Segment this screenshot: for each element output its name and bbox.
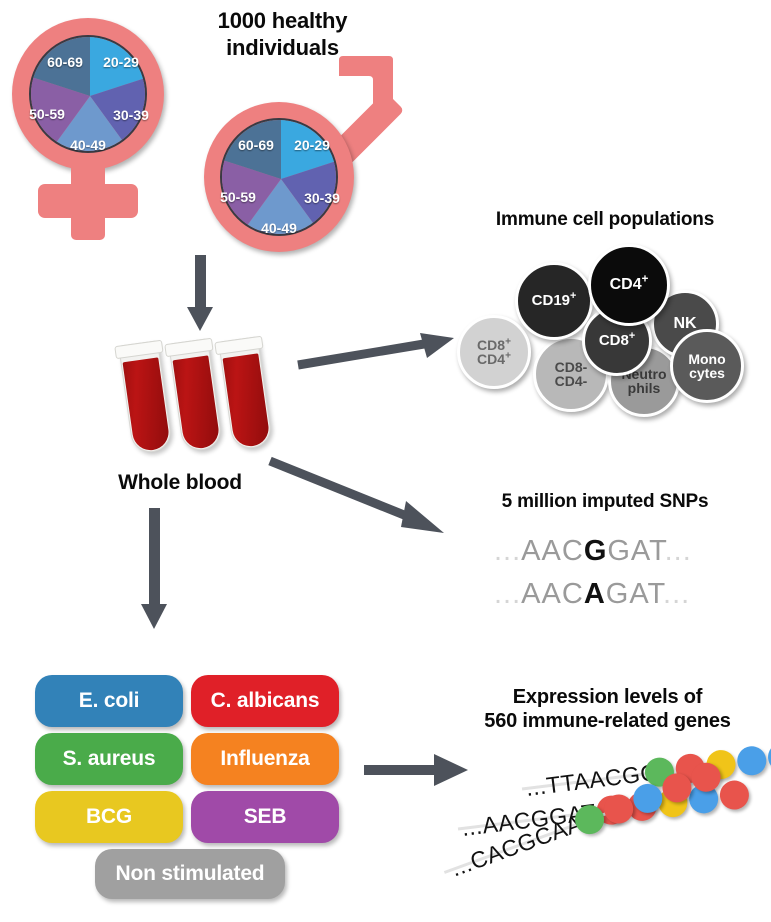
female-symbol-crossbar: [38, 184, 138, 218]
tube-blood: [173, 355, 221, 450]
pie-label-60-69: 60-69: [47, 54, 83, 70]
pie-label-50-59: 50-59: [29, 106, 65, 122]
bead: [766, 741, 771, 773]
tube-blood: [223, 353, 271, 448]
cell-label: CD19+: [532, 293, 577, 308]
stim-box-c-albicans[interactable]: C. albicans: [191, 675, 339, 727]
cell-label: CD4+: [610, 277, 649, 293]
pie-label-male-50-59: 50-59: [220, 189, 256, 205]
diagram-canvas: 1000 healthy individuals 20-29 30-39 40-…: [0, 0, 771, 922]
cell-label: CD8+CD4+: [477, 338, 511, 367]
snps-title: 5 million imputed SNPs: [460, 490, 750, 513]
cell-label: NK: [673, 316, 696, 332]
pie-label-20-29: 20-29: [103, 54, 139, 70]
cell-label: Monocytes: [688, 352, 725, 381]
blood-tube: [118, 340, 173, 454]
cell-cd4p: CD4+: [588, 244, 670, 326]
arrow-to-snps: [268, 455, 448, 545]
blood-tube: [218, 336, 273, 450]
blood-tube: [168, 338, 223, 452]
arrow-head: [141, 604, 167, 629]
whole-blood-label: Whole blood: [85, 470, 275, 496]
snp-sequence-row: ...AACGGAT...: [494, 535, 692, 568]
bead: [600, 790, 637, 827]
snp-prefix: ...: [494, 535, 521, 567]
snp-suffix: ...: [663, 578, 690, 610]
arrow-shaft: [195, 255, 206, 313]
arrow-head: [187, 307, 213, 331]
snp-right: GAT: [606, 578, 663, 610]
pie-label-male-20-29: 20-29: [294, 137, 330, 153]
stimulation-group: E. coli C. albicans S. aureus Influenza …: [35, 675, 345, 900]
pie-label-40-49: 40-49: [70, 137, 106, 153]
arrow-down-to-stimulation: [140, 508, 170, 638]
arrow-down-to-blood: [186, 255, 216, 335]
stim-box-s-aureus[interactable]: S. aureus: [35, 733, 183, 785]
male-symbol: 20-29 30-39 40-49 50-59 60-69: [198, 62, 428, 257]
tube-blood: [123, 357, 171, 452]
snp-suffix: ...: [665, 535, 692, 567]
female-symbol: 20-29 30-39 40-49 50-59 60-69: [8, 14, 188, 249]
bead: [736, 745, 768, 777]
arrow-to-immune-cells: [296, 332, 456, 380]
stim-box-influenza[interactable]: Influenza: [191, 733, 339, 785]
cell-monocytes: Monocytes: [670, 329, 744, 403]
immune-title: Immune cell populations: [455, 208, 755, 231]
snp-variant: G: [584, 535, 608, 567]
bead: [718, 779, 750, 811]
stim-box-bcg[interactable]: BCG: [35, 791, 183, 843]
snp-sequence-row: ...AACAGAT...: [494, 578, 690, 611]
male-age-pie: [220, 118, 338, 236]
stim-box-seb[interactable]: SEB: [191, 791, 339, 843]
cell-cd19p: CD19+: [515, 262, 593, 340]
cell-cd8p-cd4p: CD8+CD4+: [457, 315, 531, 389]
cell-label: CD8+: [599, 333, 635, 348]
male-symbol-arrowhead: [331, 54, 399, 122]
expression-title-line2: 560 immune-related genes: [450, 709, 765, 733]
bead: [658, 769, 695, 806]
bead: [629, 780, 666, 817]
female-age-pie: [29, 35, 147, 153]
cell-label: CD8-CD4-: [555, 360, 588, 389]
snp-left: AAC: [521, 535, 584, 567]
snp-prefix: ...: [494, 578, 521, 610]
pie-label-30-39: 30-39: [113, 107, 149, 123]
pie-label-male-60-69: 60-69: [238, 137, 274, 153]
stim-box-non-stimulated[interactable]: Non stimulated: [95, 849, 285, 899]
immune-cells-group: CD8+CD4+ CD19+ CD4+ CD8-CD4- CD8+ Neutro…: [455, 240, 765, 430]
snp-left: AAC: [521, 578, 584, 610]
snp-right: GAT: [607, 535, 664, 567]
arrow-shaft: [149, 508, 160, 610]
expression-title-line1: Expression levels of: [450, 685, 765, 709]
snp-variant: A: [584, 578, 606, 610]
dna-strands-group: ...TTAACGG ...AACGGAT ...C: [440, 740, 771, 922]
expression-title: Expression levels of 560 immune-related …: [450, 685, 765, 734]
pie-label-male-40-49: 40-49: [261, 220, 297, 236]
pie-label-male-30-39: 30-39: [304, 190, 340, 206]
strand-beads: [520, 740, 771, 772]
stim-box-e-coli[interactable]: E. coli: [35, 675, 183, 727]
cohort-title-line1: 1000 healthy: [170, 8, 395, 35]
